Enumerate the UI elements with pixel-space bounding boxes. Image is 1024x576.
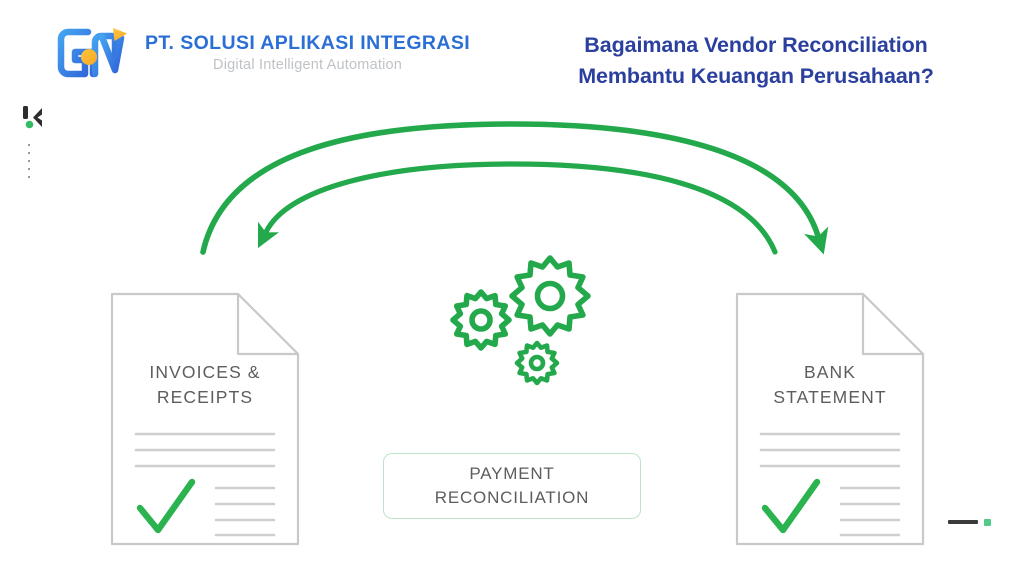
payment-reconciliation-line-1: PAYMENT (469, 462, 554, 486)
bank-statement-title-line-1: BANK (735, 360, 925, 385)
gear-small-icon (517, 343, 557, 383)
invoices-receipts-title-line-2: RECEIPTS (110, 385, 300, 410)
bank-statement-title: BANK STATEMENT (735, 360, 925, 411)
ga-monogram-logo-icon (55, 24, 133, 82)
gears-icon (445, 248, 615, 393)
gear-medium-icon (453, 292, 509, 348)
page-title-line-2: Membantu Keuangan Perusahaan? (546, 61, 966, 92)
document-fold-corner (863, 294, 923, 354)
page-title: Bagaimana Vendor Reconciliation Membantu… (546, 30, 966, 91)
document-sheet-icon (110, 292, 300, 546)
infographic-canvas: PT. SOLUSI APLIKASI INTEGRASI Digital In… (0, 0, 1024, 576)
page-title-line-1: Bagaimana Vendor Reconciliation (546, 30, 966, 61)
brand-name: PT. SOLUSI APLIKASI INTEGRASI (145, 33, 470, 54)
document-sheet-icon (735, 292, 925, 546)
brand-logo-block: PT. SOLUSI APLIKASI INTEGRASI Digital In… (55, 24, 470, 82)
invoices-receipts-title: INVOICES & RECEIPTS (110, 360, 300, 411)
gear-large-icon (512, 258, 588, 334)
arrow-right-to-left (266, 164, 775, 252)
brand-text-block: PT. SOLUSI APLIKASI INTEGRASI Digital In… (145, 29, 470, 76)
bar-and-dot-artifact (948, 515, 1006, 529)
payment-reconciliation-line-2: RECONCILIATION (435, 486, 589, 510)
document-fold-corner (238, 294, 298, 354)
cursor-glyph-artifact (20, 106, 54, 186)
invoices-receipts-document: INVOICES & RECEIPTS (110, 292, 300, 546)
artifact-dot (984, 519, 991, 526)
brand-tagline: Digital Intelligent Automation (145, 55, 470, 77)
invoices-receipts-title-line-1: INVOICES & (110, 360, 300, 385)
arrow-left-to-right (203, 124, 818, 252)
bank-statement-document: BANK STATEMENT (735, 292, 925, 546)
payment-reconciliation-box: PAYMENT RECONCILIATION (383, 453, 641, 519)
bank-statement-title-line-2: STATEMENT (735, 385, 925, 410)
artifact-bar (948, 520, 978, 524)
